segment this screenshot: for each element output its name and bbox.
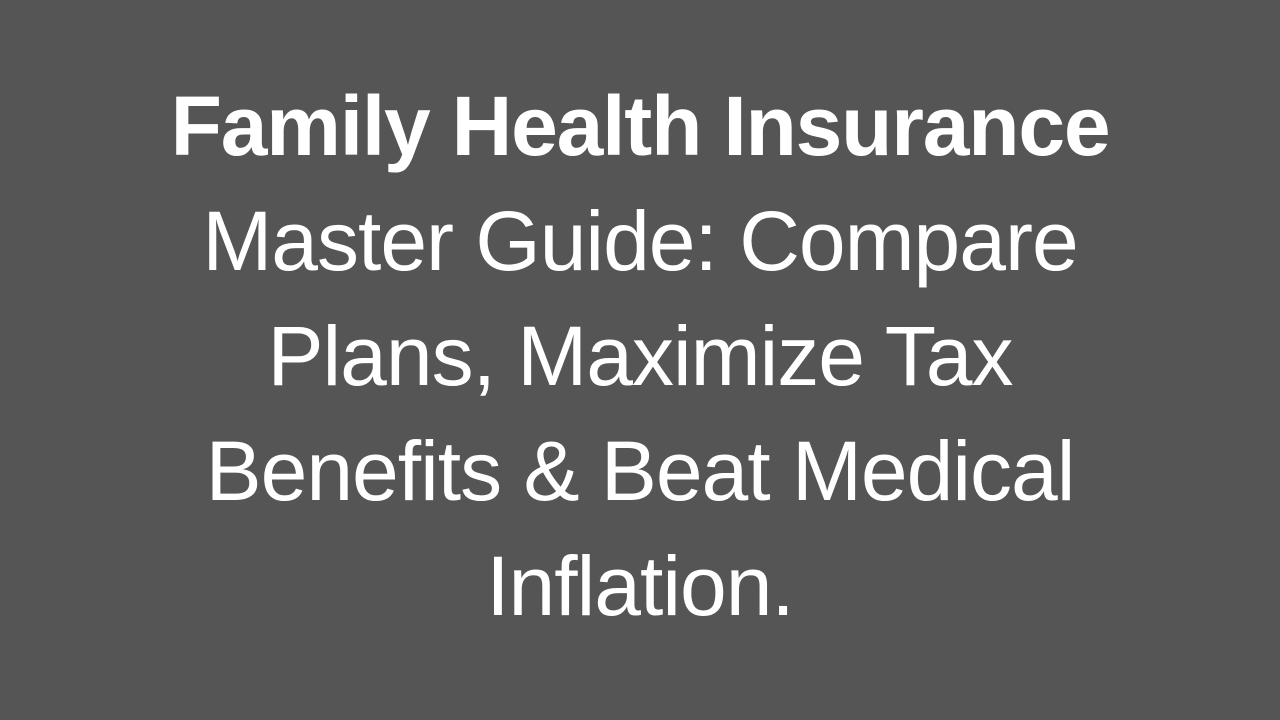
subtitle-line-1: Master Guide: Compare bbox=[70, 184, 1210, 299]
subtitle-line-3: Benefits & Beat Medical bbox=[70, 414, 1210, 529]
text-block: Family Health Insurance Master Guide: Co… bbox=[70, 69, 1210, 644]
subtitle-line-2: Plans, Maximize Tax bbox=[70, 299, 1210, 414]
title-slide: Family Health Insurance Master Guide: Co… bbox=[0, 0, 1280, 720]
subtitle: Master Guide: Compare Plans, Maximize Ta… bbox=[70, 184, 1210, 644]
subtitle-line-4: Inflation. bbox=[70, 529, 1210, 644]
page-title: Family Health Insurance bbox=[70, 69, 1210, 184]
